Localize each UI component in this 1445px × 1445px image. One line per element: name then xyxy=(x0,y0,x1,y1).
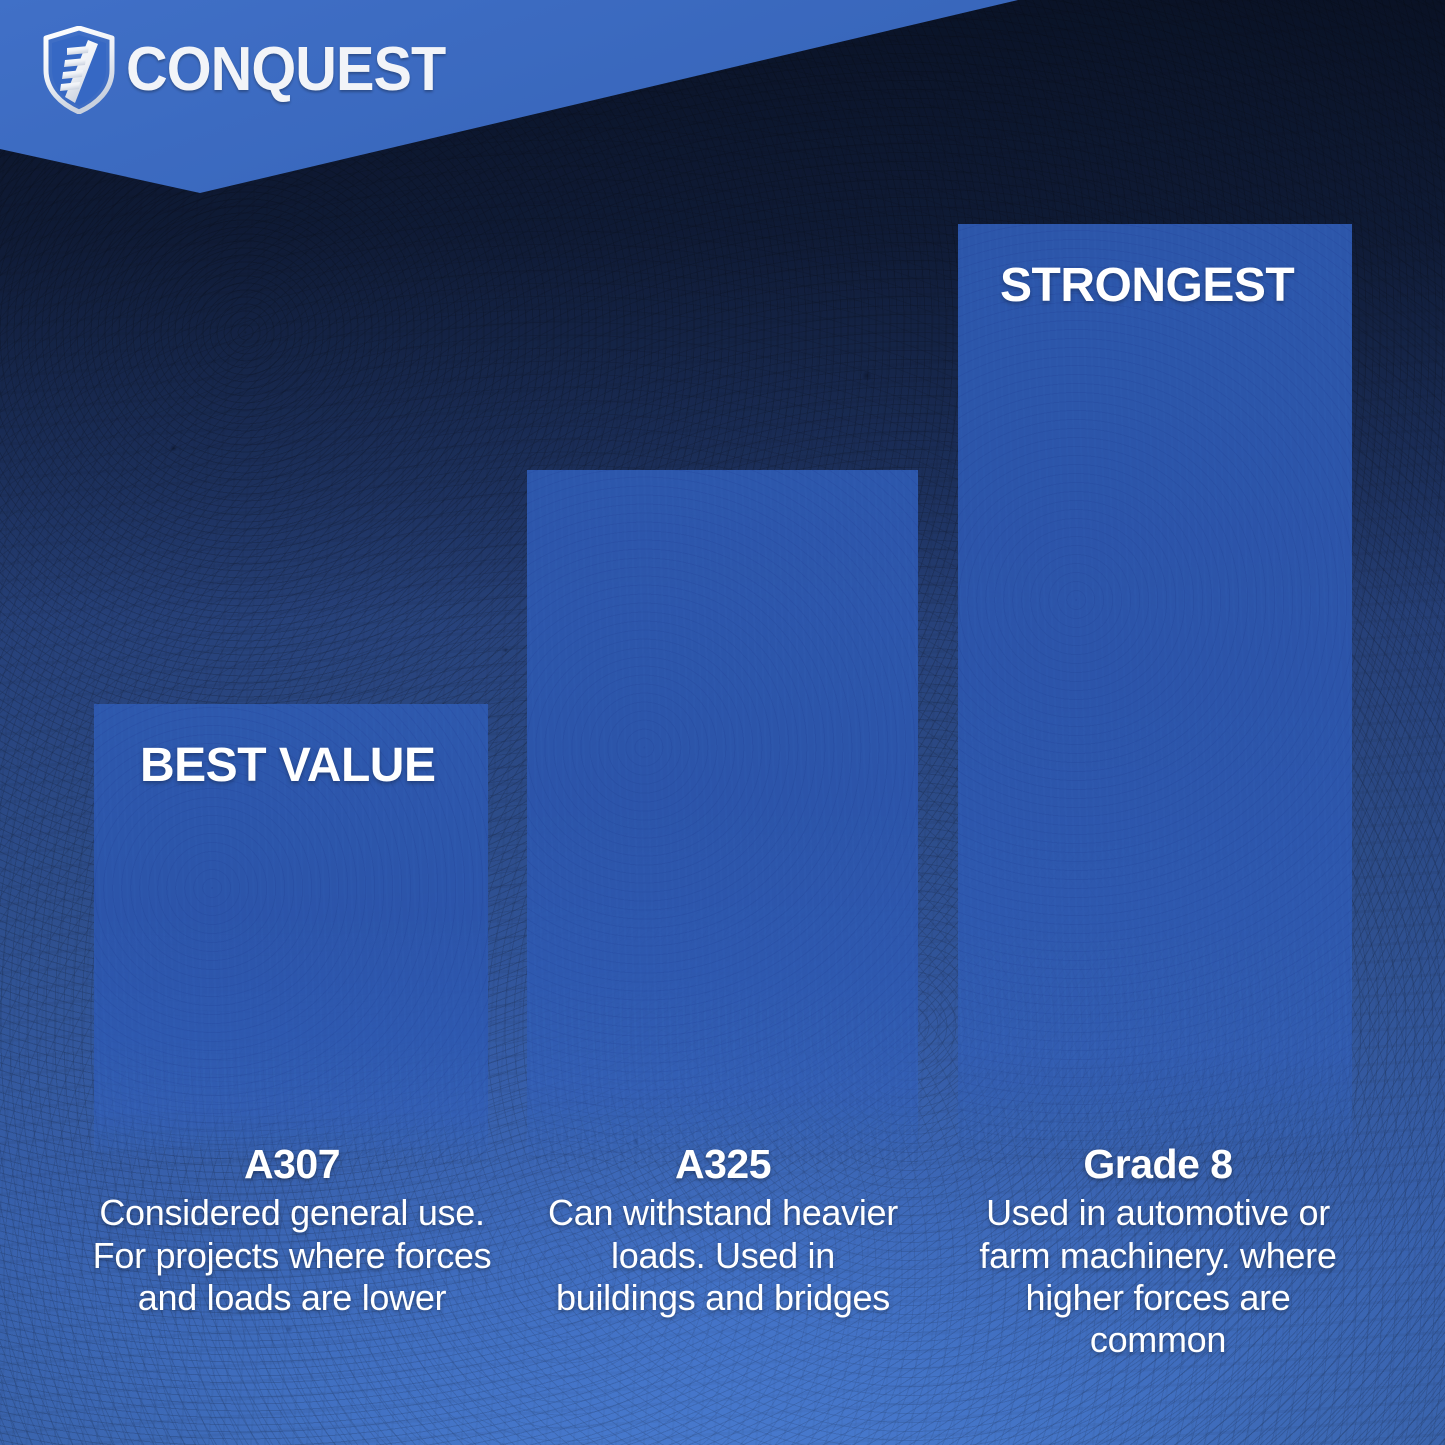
shield-bolt-icon xyxy=(42,26,116,114)
caption-a325-title: A325 xyxy=(540,1143,906,1186)
bar-grade-8 xyxy=(958,224,1352,1164)
brand-wordmark: CONQUEST xyxy=(126,39,445,101)
caption-a307-title: A307 xyxy=(92,1143,492,1186)
caption-grade-8-title: Grade 8 xyxy=(962,1143,1354,1186)
caption-grade-8: Grade 8 Used in automotive or farm machi… xyxy=(962,1143,1354,1362)
brand-logo: CONQUEST xyxy=(42,26,469,114)
caption-a325: A325 Can withstand heavier loads. Used i… xyxy=(540,1143,906,1319)
caption-grade-8-body: Used in automotive or farm machinery. wh… xyxy=(962,1192,1354,1362)
bar-grade-8-grain xyxy=(958,224,1352,1164)
bar-a325-grain xyxy=(527,470,918,1164)
caption-a307: A307 Considered general use. For project… xyxy=(92,1143,492,1319)
caption-a307-body: Considered general use. For projects whe… xyxy=(92,1192,492,1319)
bar-a325 xyxy=(527,470,918,1164)
badge-strongest: STRONGEST xyxy=(1000,262,1294,310)
badge-best-value: BEST VALUE xyxy=(140,742,435,790)
infographic-canvas: BEST VALUE STRONGEST xyxy=(0,0,1445,1445)
caption-a325-body: Can withstand heavier loads. Used in bui… xyxy=(540,1192,906,1319)
